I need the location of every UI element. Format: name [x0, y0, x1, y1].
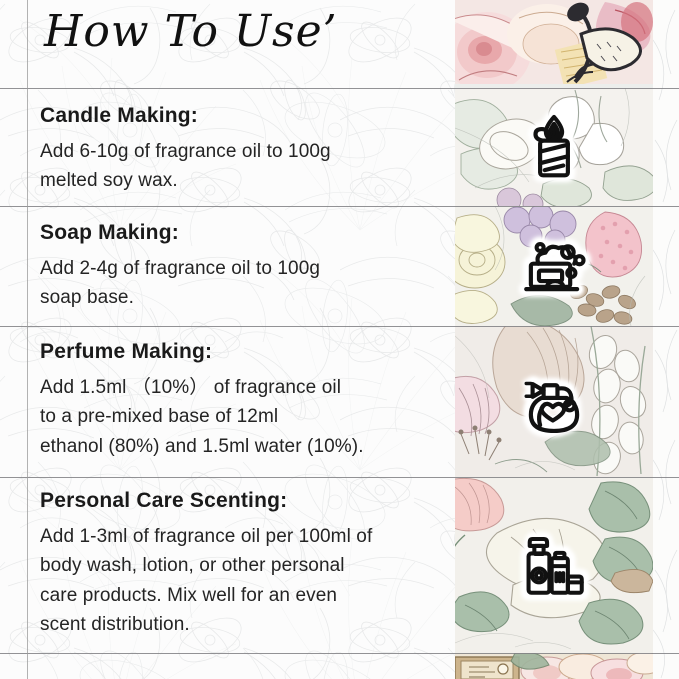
- section-personal-care-scenting: Personal Care Scenting: Add 1-3ml of fra…: [40, 489, 455, 640]
- section-candle-making: Candle Making: Add 6-10g of fragrance oi…: [40, 104, 440, 196]
- section-heading: Soap Making:: [40, 221, 440, 245]
- page-title-flourish: ’: [323, 6, 338, 57]
- section-perfume-making: Perfume Making: Add 1.5ml （10%） of fragr…: [40, 340, 440, 461]
- page-title: How To Use’: [44, 10, 338, 54]
- vintage-book-roses-photo: [455, 653, 653, 679]
- soap-bar-icon: [517, 229, 591, 303]
- left-margin-rule: [27, 0, 28, 679]
- personal-care-products-icon: [517, 528, 591, 602]
- page-title-text: How To Use: [44, 6, 323, 57]
- white-blossom-photo: [455, 88, 653, 206]
- instructions-column: How To Use’ Candle Making: Add 6-10g of …: [0, 0, 455, 679]
- photo-icon-column: [455, 0, 653, 679]
- candle-icon: [517, 110, 591, 184]
- right-margin-watermark: [653, 0, 679, 679]
- roses-and-moth-photo: [455, 0, 653, 88]
- magnolia-leaves-photo: [455, 477, 653, 653]
- perfume-bottle-icon: [517, 365, 591, 439]
- section-body: Add 6-10g of fragrance oil to 100g melte…: [40, 137, 440, 196]
- section-heading: Personal Care Scenting:: [40, 489, 455, 513]
- section-body: Add 1-3ml of fragrance oil per 100ml of …: [40, 522, 455, 640]
- section-body: Add 2-4g of fragrance oil to 100g soap b…: [40, 254, 440, 313]
- how-to-use-infographic: How To Use’ Candle Making: Add 6-10g of …: [0, 0, 679, 679]
- berries-and-blossom-photo: [455, 206, 653, 326]
- lily-and-buds-photo: [455, 326, 653, 477]
- section-body: Add 1.5ml （10%） of fragrance oil to a pr…: [40, 373, 440, 461]
- section-heading: Perfume Making:: [40, 340, 440, 364]
- section-soap-making: Soap Making: Add 2-4g of fragrance oil t…: [40, 221, 440, 313]
- section-heading: Candle Making:: [40, 104, 440, 128]
